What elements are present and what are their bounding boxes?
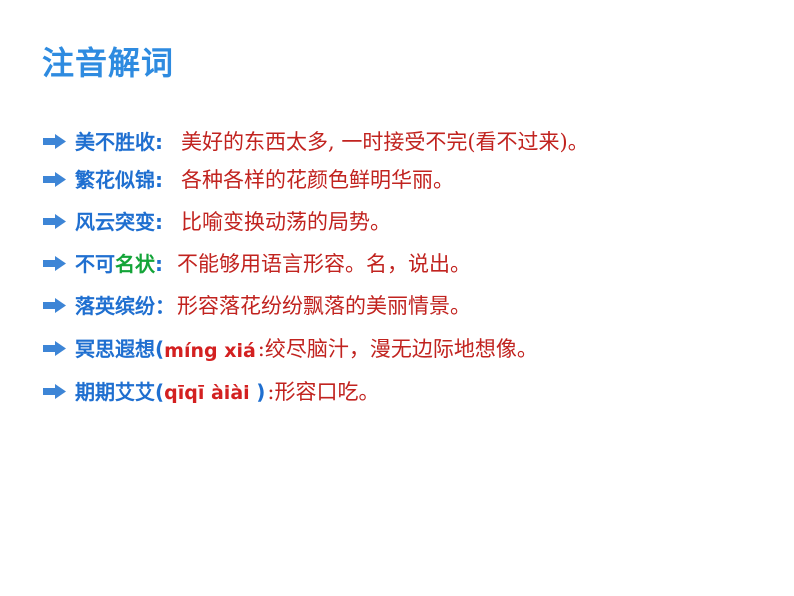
list-item: 繁花似锦: 各种各样的花颜色鲜明华丽。 (42, 164, 782, 194)
vocabulary-gloss: 绞尽脑汁，漫无边际地想像。 (265, 333, 538, 363)
list-item: 冥思遐想(míng xiá : 绞尽脑汁，漫无边际地想像。 (42, 333, 782, 363)
vocabulary-gloss: 形容落花纷纷飘落的美丽情景。 (177, 290, 471, 320)
vocabulary-gloss: 形容口吃。 (274, 376, 379, 406)
right-arrow-icon (42, 133, 68, 151)
vocabulary-term: 落英缤纷： (75, 290, 175, 319)
gloss-separator: : (258, 337, 265, 361)
term-open-paren: ( (155, 380, 164, 404)
vocabulary-gloss: 不能够用语言形容。名，说出。 (177, 248, 471, 278)
term-word: 期期艾艾 (75, 380, 155, 404)
right-arrow-icon (42, 255, 68, 273)
list-item: 期期艾艾(qīqī àiài ) : 形容口吃。 (42, 376, 782, 406)
pinyin-annotation: míng xiá (164, 338, 256, 362)
vocabulary-term: 繁花似锦: (75, 164, 163, 193)
term-word: 冥思遐想 (75, 337, 155, 361)
vocabulary-gloss: 比喻变换动荡的局势。 (181, 206, 391, 236)
vocabulary-term: 不可名状: (75, 248, 163, 277)
term-segment-green: 名状 (115, 252, 155, 276)
term-close-paren: ) (256, 380, 265, 404)
right-arrow-icon (42, 213, 68, 231)
vocabulary-gloss: 各种各样的花颜色鲜明华丽。 (181, 164, 454, 194)
vocabulary-entry-list: 美不胜收: 美好的东西太多, 一时接受不完(看不过来)。 繁花似锦: 各种各样的… (42, 126, 782, 406)
vocabulary-term: 冥思遐想(míng xiá (75, 333, 256, 362)
term-open-paren: ( (155, 337, 164, 361)
pinyin-annotation: qīqī àiài (164, 382, 256, 404)
vocabulary-term: 美不胜收: (75, 126, 163, 155)
list-item: 不可名状: 不能够用语言形容。名，说出。 (42, 248, 782, 278)
gloss-separator: : (267, 380, 274, 404)
list-item: 落英缤纷： 形容落花纷纷飘落的美丽情景。 (42, 290, 782, 320)
right-arrow-icon (42, 297, 68, 315)
term-segment-colon: : (155, 252, 163, 276)
list-item: 风云突变: 比喻变换动荡的局势。 (42, 206, 782, 236)
term-segment-blue: 不可 (75, 252, 115, 276)
list-item: 美不胜收: 美好的东西太多, 一时接受不完(看不过来)。 (42, 126, 782, 156)
vocabulary-term: 期期艾艾(qīqī àiài ) (75, 376, 265, 405)
vocabulary-term: 风云突变: (75, 206, 163, 235)
slide-canvas: 注音解词 美不胜收: 美好的东西太多, 一时接受不完(看不过来)。 繁花似锦: … (0, 0, 794, 596)
vocabulary-gloss: 美好的东西太多, 一时接受不完(看不过来)。 (181, 126, 589, 156)
right-arrow-icon (42, 340, 68, 358)
right-arrow-icon (42, 383, 68, 401)
right-arrow-icon (42, 171, 68, 189)
page-title: 注音解词 (42, 44, 174, 82)
